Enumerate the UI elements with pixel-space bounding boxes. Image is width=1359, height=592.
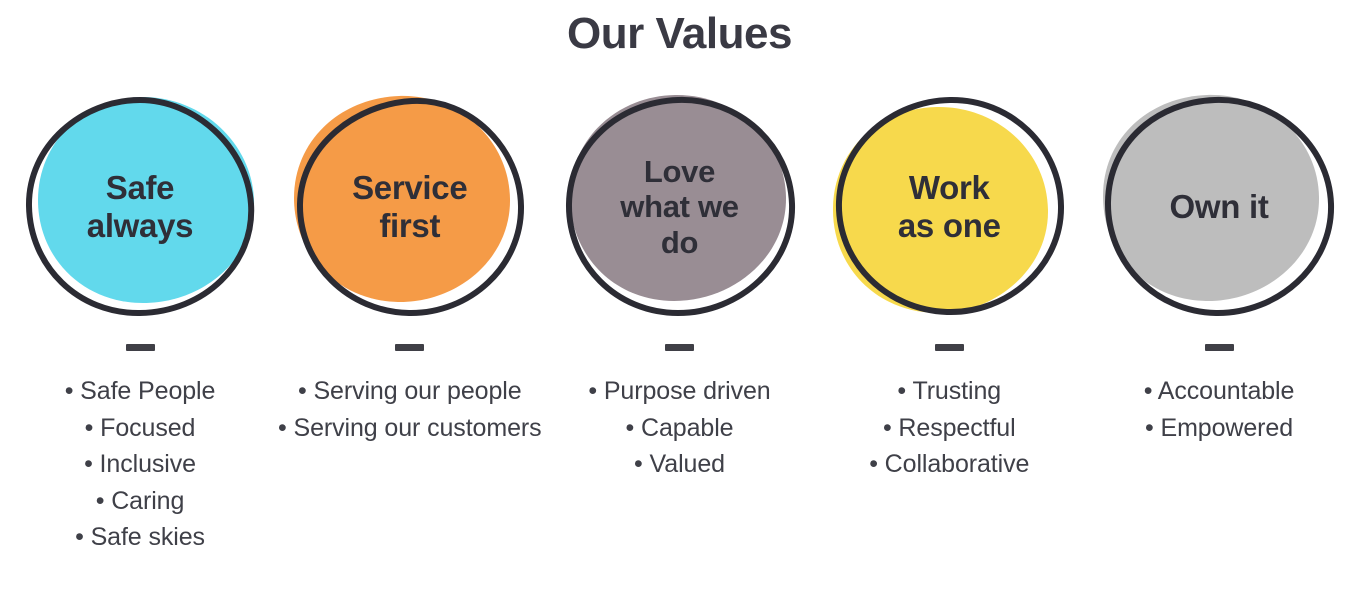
value-column-love-what-we-do: Love what we do• Purpose driven• Capable… xyxy=(546,96,814,483)
list-item: • Serving our customers xyxy=(276,410,544,447)
list-item: • Focused xyxy=(6,410,274,447)
value-bullet-list-love-what-we-do: • Purpose driven• Capable• Valued xyxy=(546,373,814,483)
value-column-work-as-one: Work as one• Trusting• Respectful• Colla… xyxy=(815,96,1083,483)
divider-dash-work-as-one xyxy=(935,344,964,351)
value-circle-label-work-as-one: Work as one xyxy=(833,96,1065,318)
value-circle-label-own-it: Own it xyxy=(1103,96,1335,318)
value-circle-label-safe-always: Safe always xyxy=(24,96,256,318)
value-circle-love-what-we-do[interactable]: Love what we do xyxy=(564,96,796,318)
value-circle-label-love-what-we-do: Love what we do xyxy=(564,96,796,318)
value-circle-safe-always[interactable]: Safe always xyxy=(24,96,256,318)
list-item: • Empowered xyxy=(1085,410,1353,447)
value-bullet-list-own-it: • Accountable• Empowered xyxy=(1085,373,1353,446)
value-bullet-list-safe-always: • Safe People• Focused• Inclusive• Carin… xyxy=(6,373,274,556)
value-circle-label-service-first: Service first xyxy=(294,96,526,318)
list-item: • Safe People xyxy=(6,373,274,410)
value-bullet-list-work-as-one: • Trusting• Respectful• Collaborative xyxy=(815,373,1083,483)
value-column-service-first: Service first• Serving our people• Servi… xyxy=(276,96,544,446)
divider-dash-love-what-we-do xyxy=(665,344,694,351)
list-item: • Inclusive xyxy=(6,446,274,483)
list-item: • Respectful xyxy=(815,410,1083,447)
list-item: • Collaborative xyxy=(815,446,1083,483)
list-item: • Trusting xyxy=(815,373,1083,410)
value-circle-own-it[interactable]: Own it xyxy=(1103,96,1335,318)
page-title: Our Values xyxy=(0,8,1359,61)
value-circle-service-first[interactable]: Service first xyxy=(294,96,526,318)
value-circle-work-as-one[interactable]: Work as one xyxy=(833,96,1065,318)
value-column-own-it: Own it• Accountable• Empowered xyxy=(1085,96,1353,446)
values-row: Safe always• Safe People• Focused• Inclu… xyxy=(0,96,1359,592)
list-item: • Capable xyxy=(546,410,814,447)
list-item: • Caring xyxy=(6,483,274,520)
list-item: • Purpose driven xyxy=(546,373,814,410)
list-item: • Accountable xyxy=(1085,373,1353,410)
value-column-safe-always: Safe always• Safe People• Focused• Inclu… xyxy=(6,96,274,556)
divider-dash-safe-always xyxy=(126,344,155,351)
list-item: • Safe skies xyxy=(6,519,274,556)
list-item: • Valued xyxy=(546,446,814,483)
divider-dash-service-first xyxy=(395,344,424,351)
value-bullet-list-service-first: • Serving our people• Serving our custom… xyxy=(276,373,544,446)
divider-dash-own-it xyxy=(1205,344,1234,351)
list-item: • Serving our people xyxy=(276,373,544,410)
